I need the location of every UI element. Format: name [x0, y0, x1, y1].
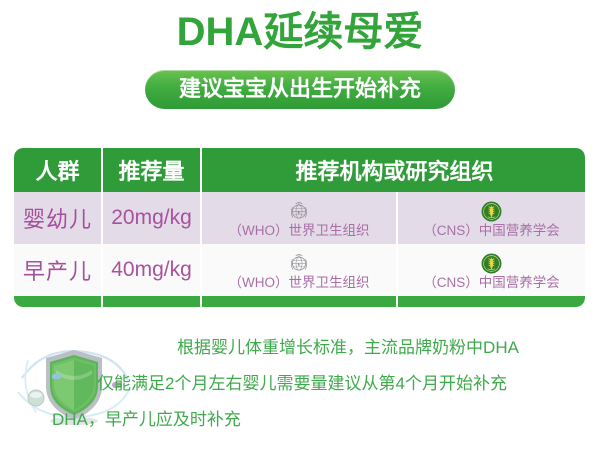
column-header-dose: 推荐量 — [103, 148, 202, 192]
organization-cns: （CNS）中国营养学会 — [423, 251, 560, 290]
cell-organization-cns: （CNS）中国营养学会 — [398, 192, 585, 244]
cns-emblem-icon — [481, 253, 502, 274]
who-emblem-icon — [288, 252, 310, 274]
note-section: 根据婴儿体重增长标准，主流品牌奶粉中DHA 仅能满足2个月左右婴儿需要量建议从第… — [0, 330, 600, 475]
cell-dose: 40mg/kg — [103, 244, 202, 296]
cns-label: （CNS）中国营养学会 — [423, 224, 560, 238]
footer-segment — [202, 296, 398, 307]
group-label: 婴幼儿 — [23, 202, 92, 234]
footer-segment — [103, 296, 202, 307]
who-label: （WHO）世界卫生组织 — [229, 224, 370, 238]
dose-label: 40mg/kg — [111, 258, 192, 282]
note-line-3: DHA，早产儿应及时补充 — [0, 402, 600, 438]
organization-cns: （CNS）中国营养学会 — [423, 199, 560, 238]
recommendation-table: 人群 推荐量 推荐机构或研究组织 婴幼儿 20mg/kg — [14, 148, 585, 307]
who-label: （WHO）世界卫生组织 — [229, 276, 370, 290]
subtitle-badge: 建议宝宝从出生开始补充 — [145, 70, 455, 109]
badge-container: 建议宝宝从出生开始补充 — [0, 70, 600, 109]
dose-label: 20mg/kg — [111, 206, 192, 230]
table-header-row: 人群 推荐量 推荐机构或研究组织 — [14, 148, 585, 192]
column-header-group: 人群 — [14, 148, 103, 192]
cell-organization-cns: （CNS）中国营养学会 — [398, 244, 585, 296]
group-label: 早产儿 — [23, 254, 92, 286]
table-row: 早产儿 40mg/kg — [14, 244, 585, 296]
note-line-1: 根据婴儿体重增长标准，主流品牌奶粉中DHA — [0, 330, 600, 366]
page-title: DHA延续母爱 — [0, 0, 600, 52]
column-header-organization: 推荐机构或研究组织 — [202, 148, 585, 192]
footer-segment — [14, 296, 103, 307]
cns-label: （CNS）中国营养学会 — [423, 276, 560, 290]
footer-segment — [398, 296, 585, 307]
cns-emblem-icon — [481, 201, 502, 222]
cell-dose: 20mg/kg — [103, 192, 202, 244]
cell-organization-who: （WHO）世界卫生组织 — [202, 192, 398, 244]
cell-group: 婴幼儿 — [14, 192, 103, 244]
cell-organization-who: （WHO）世界卫生组织 — [202, 244, 398, 296]
organization-who: （WHO）世界卫生组织 — [229, 198, 370, 238]
organization-who: （WHO）世界卫生组织 — [229, 250, 370, 290]
table-footer-bar — [14, 296, 585, 307]
table-row: 婴幼儿 20mg/kg — [14, 192, 585, 244]
who-emblem-icon — [288, 200, 310, 222]
note-text: 根据婴儿体重增长标准，主流品牌奶粉中DHA 仅能满足2个月左右婴儿需要量建议从第… — [0, 330, 600, 438]
note-line-2: 仅能满足2个月左右婴儿需要量建议从第4个月开始补充 — [0, 366, 600, 402]
cell-group: 早产儿 — [14, 244, 103, 296]
